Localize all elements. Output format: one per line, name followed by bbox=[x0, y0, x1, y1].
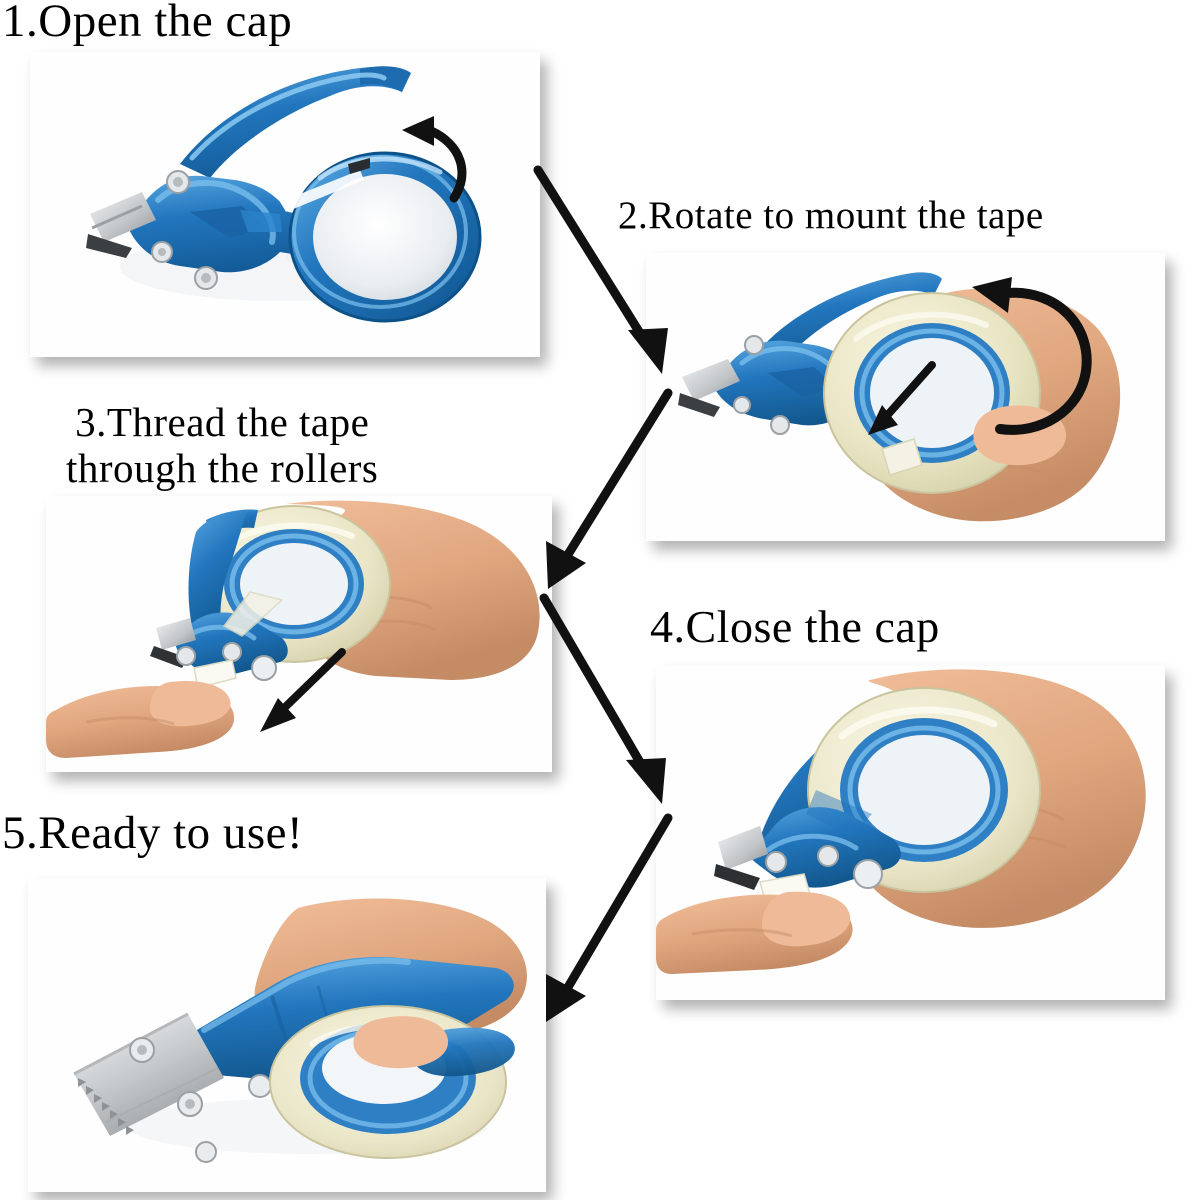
step-5-illustration bbox=[28, 878, 546, 1192]
step-3-title-line-1: 3.Thread the tape bbox=[66, 402, 378, 444]
step-4-title: 4.Close the cap bbox=[650, 604, 940, 651]
step-2-illustration bbox=[646, 253, 1165, 541]
step-4-photo bbox=[656, 666, 1165, 1000]
step-3-title: 3.Thread the tape through the rollers bbox=[66, 402, 378, 490]
step-2-photo bbox=[646, 253, 1165, 541]
step-5-title: 5.Ready to use! bbox=[2, 810, 303, 858]
step-2-title-text: 2.Rotate to mount the tape bbox=[618, 194, 1044, 237]
step-5-photo bbox=[28, 878, 546, 1192]
step-2-title: 2.Rotate to mount the tape bbox=[618, 196, 1044, 236]
step-5-title-text: 5.Ready to use! bbox=[2, 807, 303, 859]
step-1-illustration bbox=[30, 52, 540, 357]
step-3-title-line-2: through the rollers bbox=[66, 448, 378, 490]
step-3-illustration bbox=[46, 496, 552, 772]
step-4-title-text: 4.Close the cap bbox=[650, 601, 940, 652]
step-1-photo bbox=[30, 52, 540, 357]
step-4-illustration bbox=[656, 666, 1165, 1000]
step-3-photo bbox=[46, 496, 552, 772]
step-1-title: 1.Open the cap bbox=[2, 0, 292, 46]
infographic-canvas: 1.Open the cap bbox=[0, 0, 1200, 1200]
step-1-title-text: 1.Open the cap bbox=[2, 0, 292, 47]
